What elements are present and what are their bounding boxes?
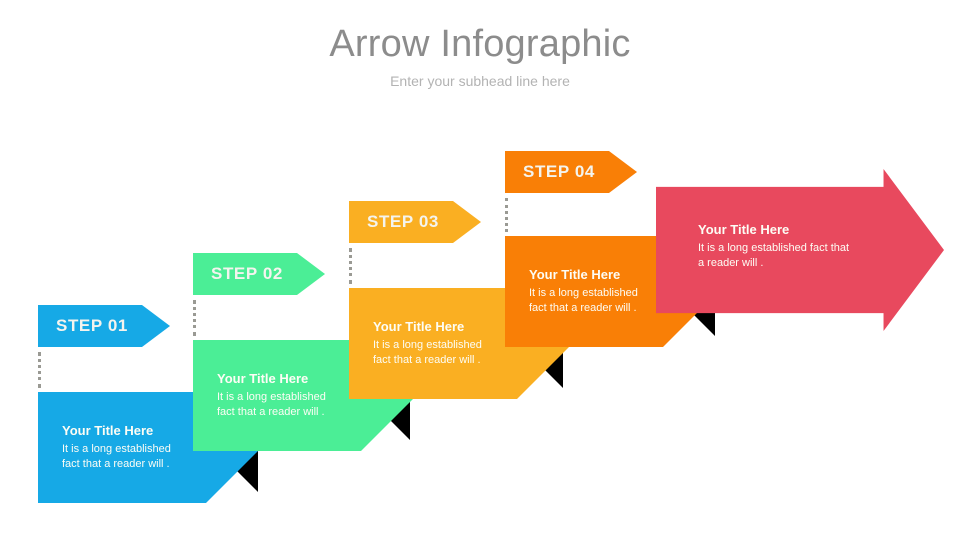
step-banner-label-3: STEP 03 [367, 212, 439, 232]
step-connector-4 [505, 198, 511, 232]
step-banner-1[interactable]: STEP 01 [38, 305, 170, 347]
page-title: Arrow Infographic [0, 22, 960, 66]
page-subtitle: Enter your subhead line here [0, 71, 960, 91]
step-card-text-3-line2: fact that a reader will . [373, 353, 549, 368]
final-arrow-body: Your Title Here It is a long established… [698, 221, 873, 271]
final-arrow[interactable]: Your Title Here It is a long established… [656, 169, 944, 331]
step-connector-2 [193, 300, 199, 336]
step-card-text-1-line2: fact that a reader will . [62, 457, 238, 472]
step-banner-label-4: STEP 04 [523, 162, 595, 182]
final-arrow-text-line2: a reader will . [698, 256, 873, 271]
step-connector-1 [38, 352, 44, 388]
step-connector-3 [349, 248, 355, 284]
step-banner-4[interactable]: STEP 04 [505, 151, 637, 193]
step-banner-2[interactable]: STEP 02 [193, 253, 325, 295]
step-banner-label-2: STEP 02 [211, 264, 283, 284]
step-banner-3[interactable]: STEP 03 [349, 201, 481, 243]
slide-canvas: Arrow Infographic Enter your subhead lin… [0, 0, 960, 540]
final-arrow-text-line1: It is a long established fact that [698, 241, 873, 256]
final-arrow-title: Your Title Here [698, 221, 873, 239]
step-banner-label-1: STEP 01 [56, 316, 128, 336]
step-card-text-2-line2: fact that a reader will . [217, 405, 393, 420]
